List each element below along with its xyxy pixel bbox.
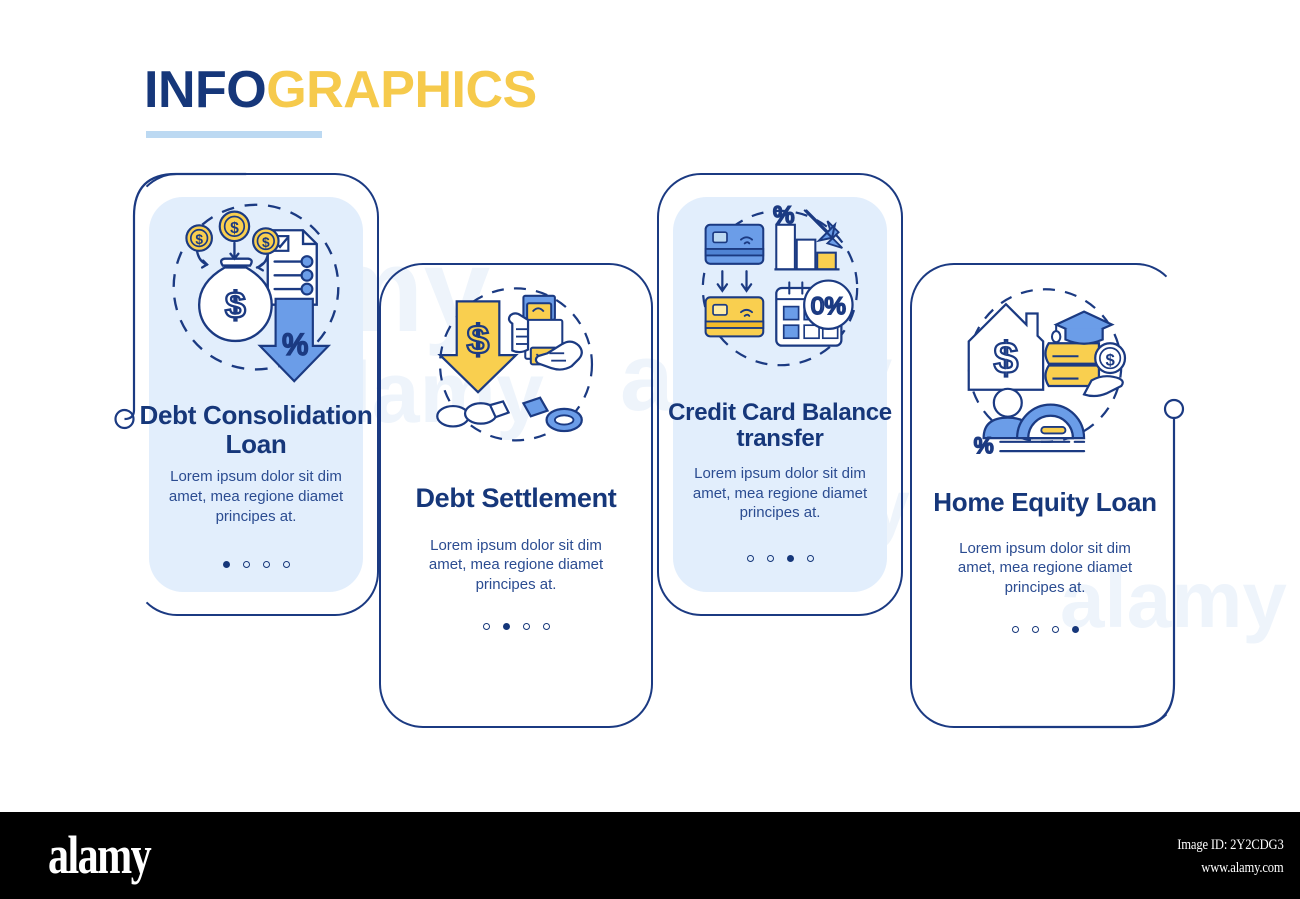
step-indicator-dots[interactable] [223, 561, 290, 568]
zero-percent-label: 0% [811, 293, 846, 320]
stock-photo-footer-bar: alamy Image ID: 2Y2CDG3 www.alamy.com [0, 812, 1300, 899]
step-dot-1[interactable] [223, 561, 230, 568]
credit-card-transfer-declining-bars-calculator-icon: % [687, 195, 873, 386]
step-dot-4[interactable] [543, 623, 550, 630]
card-body-text: Lorem ipsum dolor sit dim amet, mea regi… [940, 539, 1150, 598]
step-indicator-dots[interactable] [483, 623, 550, 630]
step-dot-3[interactable] [263, 561, 270, 568]
step-dot-4[interactable] [283, 561, 290, 568]
svg-text:$: $ [467, 316, 490, 362]
infographic-card-1[interactable]: $ $ $ $ [133, 173, 379, 616]
title-underline-bar [146, 131, 322, 138]
card-title: Home Equity Loan [933, 488, 1156, 517]
step-indicator-dots[interactable] [747, 555, 814, 562]
step-dot-2[interactable] [767, 555, 774, 562]
infographic-canvas: alamy alamy alamy alamy alamy INFOGRAPHI… [0, 0, 1300, 899]
card-body-text: Lorem ipsum dolor sit dim amet, mea regi… [411, 536, 621, 595]
svg-text:$: $ [262, 235, 270, 250]
step-dot-4[interactable] [807, 555, 814, 562]
house-dollar-graduation-books-gauge-percent-icon: $ $ [952, 283, 1138, 468]
card-body-text: Lorem ipsum dolor sit dim amet, mea regi… [156, 467, 356, 526]
title-graphics-part: GRAPHICS [266, 61, 536, 119]
infographic-card-2[interactable]: $ [379, 263, 653, 728]
svg-text:%: % [282, 329, 308, 362]
step-dot-4[interactable] [1072, 626, 1079, 633]
infographic-card-4[interactable]: $ $ [910, 263, 1180, 728]
svg-text:$: $ [225, 283, 246, 325]
card-title: Debt Consolidation Loan [133, 401, 379, 458]
step-indicator-dots[interactable] [1012, 626, 1079, 633]
step-dot-3[interactable] [1052, 626, 1059, 633]
step-dot-2[interactable] [243, 561, 250, 568]
step-dot-1[interactable] [483, 623, 490, 630]
title-info-part: INFO [144, 61, 266, 119]
website-label: www.alamy.com [1178, 857, 1284, 880]
svg-text:$: $ [230, 220, 239, 237]
svg-text:%: % [974, 433, 994, 458]
coins-into-money-bag-checklist-percent-arrow-icon: $ $ $ $ [158, 193, 354, 394]
step-dot-1[interactable] [1012, 626, 1019, 633]
step-dot-2[interactable] [503, 623, 510, 630]
card-title: Debt Settlement [415, 484, 616, 514]
step-dot-2[interactable] [1032, 626, 1039, 633]
page-title: INFOGRAPHICS [144, 64, 537, 116]
card-body-text: Lorem ipsum dolor sit dim amet, mea regi… [678, 464, 883, 523]
infographic-card-3[interactable]: % [657, 173, 903, 616]
step-dot-1[interactable] [747, 555, 754, 562]
image-id-label: Image ID: 2Y2CDG3 [1178, 834, 1284, 857]
svg-text:$: $ [1105, 351, 1115, 370]
step-dot-3[interactable] [523, 623, 530, 630]
svg-text:$: $ [994, 334, 1019, 383]
card-title: Credit Card Balance transfer [657, 400, 903, 453]
alamy-logo: alamy [48, 828, 150, 882]
step-dot-3[interactable] [787, 555, 794, 562]
svg-text:$: $ [195, 232, 203, 247]
dollar-arrow-hands-cash-broken-chain-icon: $ [423, 281, 609, 462]
